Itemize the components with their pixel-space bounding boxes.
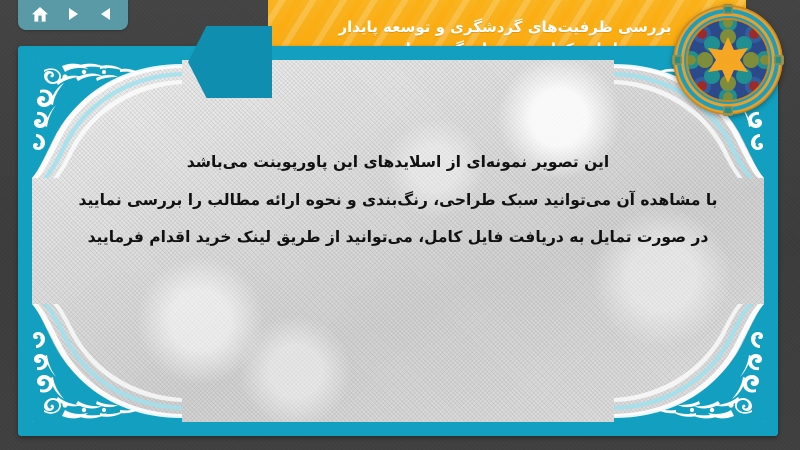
body-line-2: با مشاهده آن می‌توانید سبک طراحی، رنگ‌بن…	[66, 182, 730, 220]
corner-ornament-bottom-left	[32, 304, 182, 422]
triangle-left-icon	[98, 6, 114, 22]
slide-navigation-bar	[18, 0, 128, 30]
persian-medallion-ornament	[672, 4, 784, 116]
next-slide-button[interactable]	[60, 3, 86, 25]
corner-ornament-bottom-right	[614, 304, 764, 422]
slide-body-text: این تصویر نمونه‌ای از اسلایدهای این پاور…	[66, 144, 730, 257]
home-button[interactable]	[27, 3, 53, 25]
body-line-1: این تصویر نمونه‌ای از اسلایدهای این پاور…	[66, 144, 730, 182]
previous-slide-button[interactable]	[93, 3, 119, 25]
title-line-1: بررسی ظرفیت‌های گردشگری و توسعه پایدار	[338, 16, 671, 38]
home-icon	[31, 6, 49, 23]
slide-canvas: این تصویر نمونه‌ای از اسلایدهای این پاور…	[32, 60, 764, 422]
slide-frame: این تصویر نمونه‌ای از اسلایدهای این پاور…	[18, 46, 778, 436]
body-line-3: در صورت تمایل به دریافت فایل کامل، می‌تو…	[66, 219, 730, 257]
triangle-right-icon	[65, 6, 81, 22]
slide-viewer: بررسی ظرفیت‌های گردشگری و توسعه پایدار د…	[0, 0, 800, 450]
